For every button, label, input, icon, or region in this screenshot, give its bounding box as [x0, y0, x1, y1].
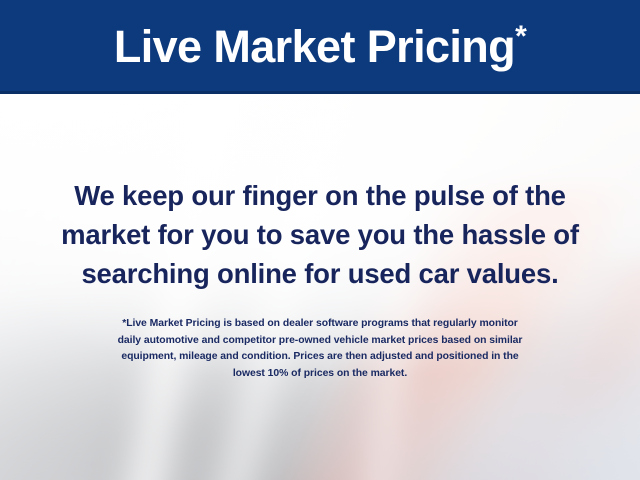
disclaimer-line: daily automotive and competitor pre-owne…: [28, 333, 612, 350]
banner-content: We keep our finger on the pulse of the m…: [0, 94, 640, 480]
disclaimer-line: equipment, mileage and condition. Prices…: [28, 349, 612, 366]
headline-line: market for you to save you the hassle of: [26, 215, 614, 254]
disclaimer-line: *Live Market Pricing is based on dealer …: [28, 316, 612, 333]
headline-line: searching online for used car values.: [26, 254, 614, 293]
disclaimer-line: lowest 10% of prices on the market.: [28, 366, 612, 383]
live-market-pricing-banner: Live Market Pricing* We keep our finger …: [0, 0, 640, 480]
headline: We keep our finger on the pulse of the m…: [26, 176, 614, 293]
headline-line: We keep our finger on the pulse of the: [26, 176, 614, 215]
title-asterisk-marker: *: [515, 20, 526, 53]
disclaimer-text: *Live Market Pricing is based on dealer …: [28, 316, 612, 382]
page-title-text: Live Market Pricing: [114, 21, 515, 72]
page-title: Live Market Pricing*: [114, 24, 526, 71]
header-band: Live Market Pricing*: [0, 0, 640, 94]
